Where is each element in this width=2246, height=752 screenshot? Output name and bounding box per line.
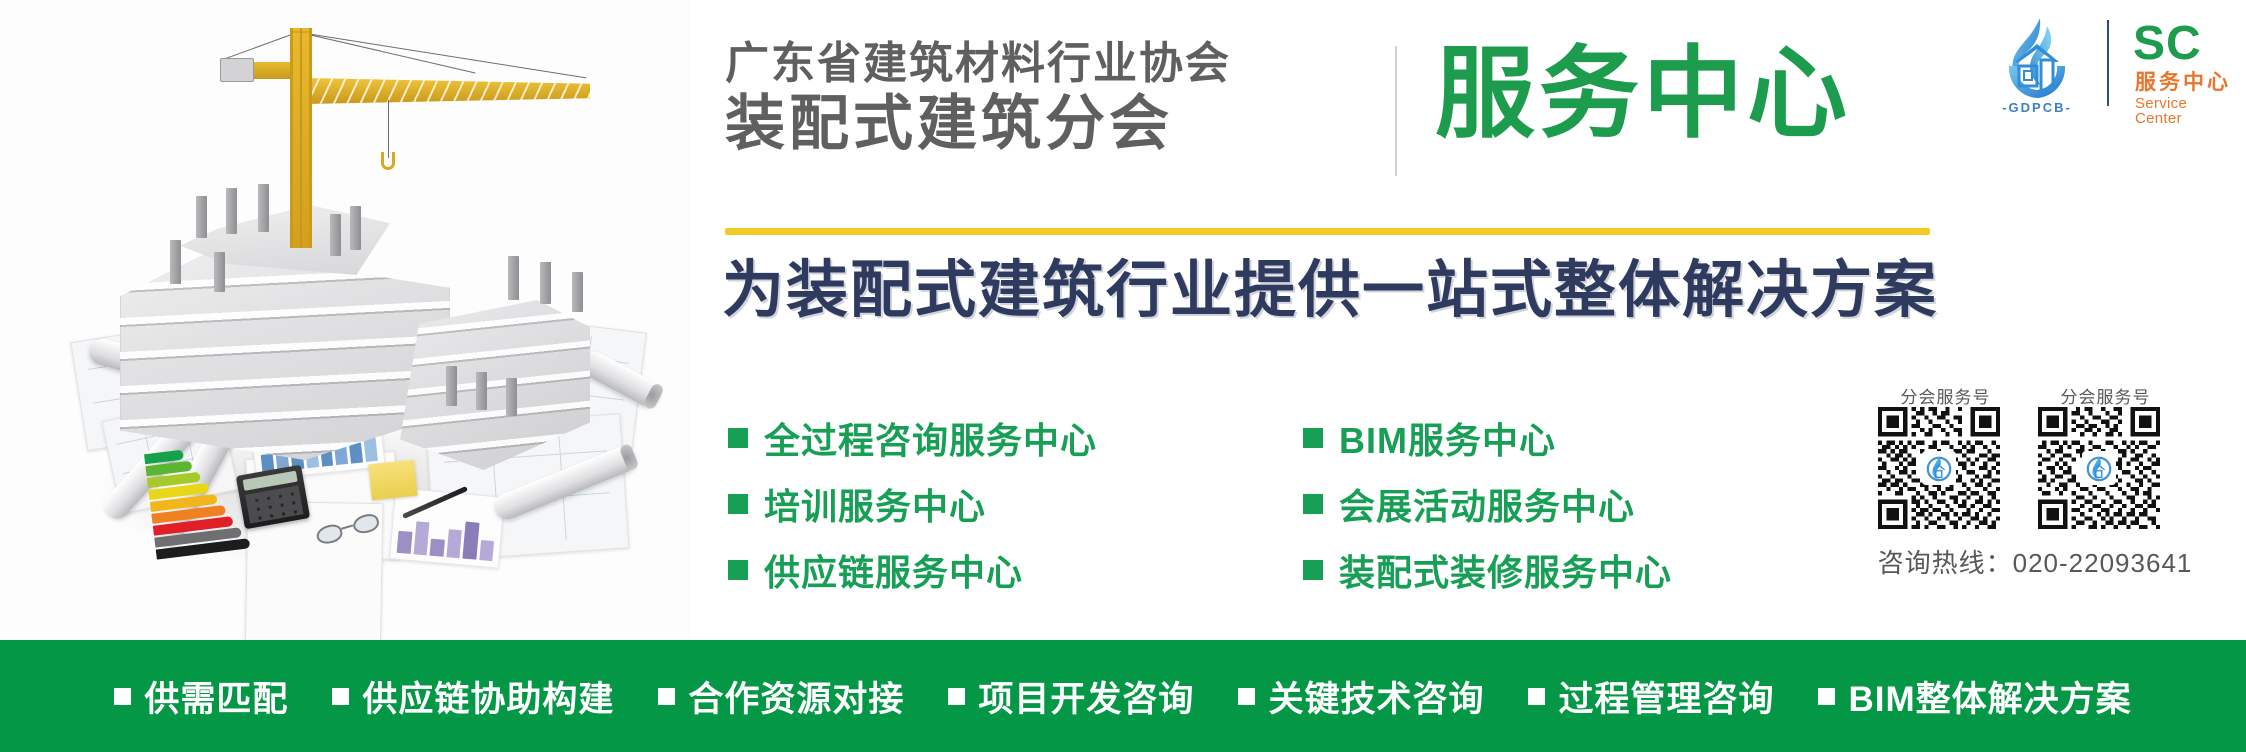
banner-root: 广东省建筑材料行业协会 装配式建筑分会 服务中心 为装配式建筑行业提供一站式整体… <box>0 0 2246 752</box>
service-center-title: 服务中心 <box>1435 44 1851 144</box>
crane-mast <box>290 28 312 248</box>
qr-code-icon <box>1878 407 2000 529</box>
bottom-bar-label: BIM整体解决方案 <box>1848 671 2131 722</box>
bottom-bar-label: 项目开发咨询 <box>978 671 1194 722</box>
logo-sc-chinese: 服务中心 <box>2135 72 2231 93</box>
service-list-column-right: BIM服务中心 会展活动服务中心 装配式装修服务中心 <box>1303 405 1672 603</box>
list-item[interactable]: BIM服务中心 <box>1303 405 1672 471</box>
bottom-bar-item[interactable]: 供应链协助构建 <box>332 671 614 722</box>
rebar-column <box>540 262 551 304</box>
bullet-square-icon <box>1238 688 1255 705</box>
page-tagline: 为装配式建筑行业提供一站式整体解决方案 <box>722 258 1938 323</box>
list-item-label: 培训服务中心 <box>764 478 986 530</box>
crane-hook-icon <box>381 152 395 170</box>
hero-construction-image <box>0 0 690 640</box>
bullet-square-icon <box>114 688 131 705</box>
bottom-bar-item[interactable]: 供需匹配 <box>114 671 288 722</box>
list-item[interactable]: 装配式装修服务中心 <box>1303 537 1672 603</box>
rebar-column <box>506 378 517 416</box>
bullet-square-icon <box>1303 560 1323 580</box>
logo-sc-initials: SC <box>2133 20 2202 68</box>
bullet-square-icon <box>1303 494 1323 514</box>
qr-embedded-logo-icon <box>2082 451 2116 485</box>
list-item-label: 全过程咨询服务中心 <box>764 412 1097 464</box>
logo-divider <box>2107 20 2109 106</box>
rebar-column <box>258 184 269 232</box>
bottom-bar-item[interactable]: 过程管理咨询 <box>1528 671 1774 722</box>
bullet-square-icon <box>948 688 965 705</box>
list-item[interactable]: 培训服务中心 <box>728 471 1097 537</box>
rebar-column <box>476 372 487 410</box>
list-item-label: BIM服务中心 <box>1339 412 1556 464</box>
bottom-bar-item[interactable]: 关键技术咨询 <box>1238 671 1484 722</box>
qr-code-label: 分会服务号 <box>2038 383 2173 408</box>
bottom-bar-label: 合作资源对接 <box>688 671 904 722</box>
bullet-square-icon <box>728 428 748 448</box>
list-item[interactable]: 全过程咨询服务中心 <box>728 405 1097 471</box>
bottom-services-bar: 供需匹配 供应链协助构建 合作资源对接 项目开发咨询 关键技术咨询 过程管理咨询… <box>0 640 2246 752</box>
list-item-label: 供应链服务中心 <box>764 544 1023 596</box>
rebar-column <box>226 188 237 234</box>
association-name-line1: 广东省建筑材料行业协会 <box>725 42 1231 86</box>
bullet-square-icon <box>728 494 748 514</box>
bullet-square-icon <box>332 688 349 705</box>
bottom-bar-item[interactable]: BIM整体解决方案 <box>1818 671 2131 722</box>
logo-emblem-text: -GDPCB- <box>1985 100 2089 115</box>
association-branch-line2: 装配式建筑分会 <box>725 94 1231 154</box>
bottom-bar-item[interactable]: 项目开发咨询 <box>948 671 1194 722</box>
bottom-bar-label: 关键技术咨询 <box>1268 671 1484 722</box>
sticky-note <box>368 460 418 501</box>
bottom-bar-label: 供需匹配 <box>144 671 288 722</box>
logo-cluster[interactable]: -GDPCB- SC 服务中心 Service Center <box>1985 14 2235 118</box>
list-item-label: 装配式装修服务中心 <box>1339 544 1672 596</box>
rebar-column <box>350 206 361 250</box>
list-item[interactable]: 会展活动服务中心 <box>1303 471 1672 537</box>
rebar-column <box>330 214 341 256</box>
bottom-bar-label: 过程管理咨询 <box>1558 671 1774 722</box>
bullet-square-icon <box>1528 688 1545 705</box>
chart-bars <box>397 511 496 561</box>
calculator-icon <box>236 465 310 530</box>
association-title-block: 广东省建筑材料行业协会 装配式建筑分会 <box>725 42 1231 154</box>
rebar-column <box>196 196 207 238</box>
list-item[interactable]: 供应链服务中心 <box>728 537 1097 603</box>
qr-embedded-logo-icon <box>1922 451 1956 485</box>
rebar-column <box>508 256 519 300</box>
yellow-divider-rule <box>725 228 1930 235</box>
crane-operator-cab <box>220 58 254 82</box>
bullet-square-icon <box>1303 428 1323 448</box>
qr-code-label: 分会服务号 <box>1878 383 2013 408</box>
bullet-square-icon <box>728 560 748 580</box>
qr-code-icon <box>2038 407 2160 529</box>
rebar-column <box>572 272 583 312</box>
qr-code-1[interactable] <box>1878 407 2013 529</box>
bullet-square-icon <box>1818 688 1835 705</box>
rebar-column <box>170 240 181 284</box>
bottom-bar-label: 供应链协助构建 <box>362 671 614 722</box>
bullet-square-icon <box>658 688 675 705</box>
energy-rating-label <box>144 442 254 557</box>
list-item-label: 会展活动服务中心 <box>1339 478 1635 530</box>
bottom-bar-item[interactable]: 合作资源对接 <box>658 671 904 722</box>
hotline-text: 咨询热线：020-22093641 <box>1870 543 2200 580</box>
house-flame-icon <box>1985 14 2089 102</box>
rebar-column <box>446 366 457 406</box>
rebar-column <box>214 252 225 292</box>
title-divider <box>1395 46 1397 176</box>
qr-code-2[interactable] <box>2038 407 2173 529</box>
service-list-column-left: 全过程咨询服务中心 培训服务中心 供应链服务中心 <box>728 405 1097 603</box>
logo-sc-english: Service Center <box>2135 96 2235 126</box>
crane-hoist-line <box>388 100 389 158</box>
